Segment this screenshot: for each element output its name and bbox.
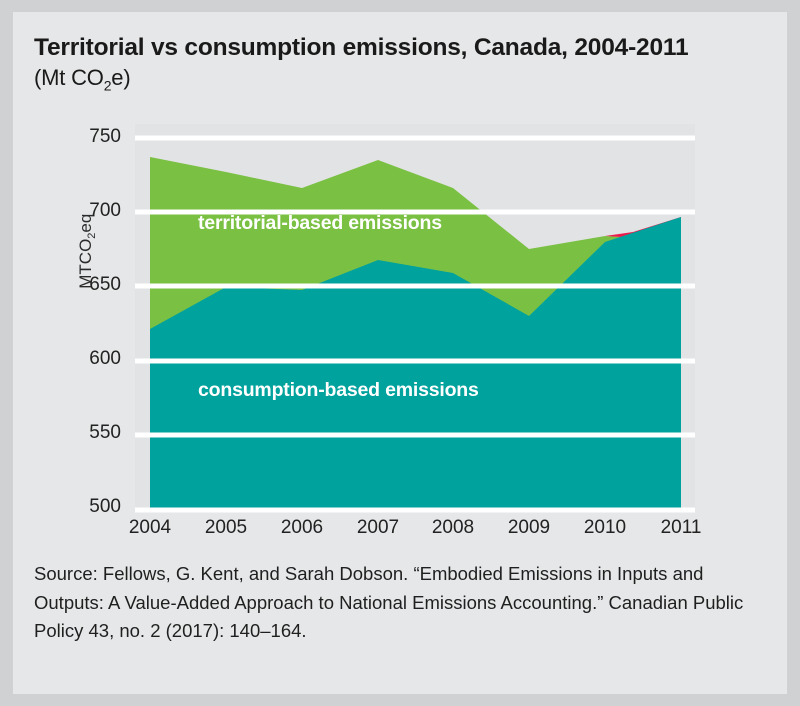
x-tick-2009: 2009 [494,517,564,539]
x-tick-2004: 2004 [115,517,185,539]
source-citation: Source: Fellows, G. Kent, and Sarah Dobs… [34,560,759,646]
x-tick-2008: 2008 [418,517,488,539]
chart-card: Territorial vs consumption emissions, Ca… [13,12,787,694]
x-tick-2006: 2006 [267,517,337,539]
x-tick-2007: 2007 [343,517,413,539]
x-tick-2011: 2011 [646,517,716,539]
x-tick-2005: 2005 [191,517,261,539]
x-tick-2010: 2010 [570,517,640,539]
